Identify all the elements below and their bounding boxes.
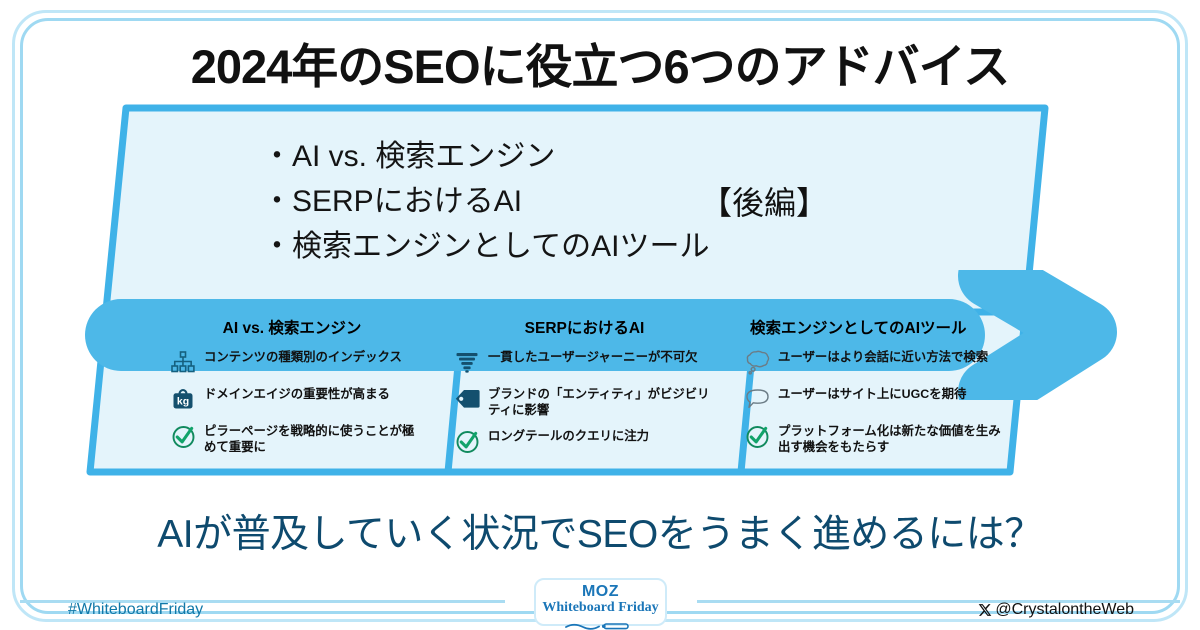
footer-hashtag: #WhiteboardFriday	[68, 601, 203, 619]
column-3-heading: 検索エンジンとしてのAIツール	[742, 316, 1012, 338]
thought-bubble-icon	[742, 348, 772, 376]
column-2-item-1-text: 一貫したユーザージャーニーが不可欠	[488, 347, 698, 366]
check-circle-icon	[168, 422, 198, 450]
column-1-item-1: コンテンツの種類別のインデックス	[168, 347, 416, 376]
column-2-item-2: ブランドの「エンティティ」がビジビリティに影響	[452, 384, 717, 418]
moz-brand-label: MOZ	[536, 584, 665, 600]
column-3-item-3: プラットフォーム化は新たな価値を生み出す機会をもたらす	[742, 421, 1012, 455]
slide-canvas: 2024年のSEOに役立つ6つのアドバイス ・AI vs. 検索エンジン ・SE…	[0, 0, 1200, 630]
column-3-item-1: ユーザーはより会話に近い方法で検索	[742, 347, 1012, 376]
check-circle-icon	[742, 422, 772, 450]
kg-weight-bag-icon: kg	[168, 385, 198, 413]
footer-social-handle[interactable]: @CrystalontheWeb	[978, 601, 1134, 619]
moz-whiteboard-friday-badge: MOZ Whiteboard Friday	[534, 578, 667, 626]
intro-bullet-1: ・AI vs. 検索エンジン	[262, 136, 709, 178]
column-3-item-1-text: ユーザーはより会話に近い方法で検索	[778, 347, 988, 366]
marker-pen-icon	[536, 617, 665, 630]
column-1-item-2: kg ドメインエイジの重要性が高まる	[168, 384, 416, 413]
column-1-item-3-text: ピラーページを戦略的に使うことが極めて重要に	[204, 421, 416, 455]
column-1-heading: AI vs. 検索エンジン	[168, 316, 416, 338]
column-2-heading: SERPにおけるAI	[452, 316, 717, 338]
column-3-item-2: ユーザーはサイト上にUGCを期待	[742, 384, 1012, 413]
tag-icon	[452, 385, 482, 413]
intro-bullet-list: ・AI vs. 検索エンジン ・SERPにおけるAI ・検索エンジンとしてのAI…	[262, 136, 709, 271]
column-2-item-2-text: ブランドの「エンティティ」がビジビリティに影響	[488, 384, 717, 418]
intro-bullet-3: ・検索エンジンとしてのAIツール	[262, 226, 709, 268]
part-badge-label: 【後編】	[700, 178, 828, 224]
funnel-icon	[452, 348, 482, 376]
speech-bubble-icon	[742, 385, 772, 413]
column-ai-vs-search-engine: AI vs. 検索エンジン コンテンツの種類別のインデックス	[168, 316, 416, 463]
column-2-item-3-text: ロングテールのクエリに注力	[488, 426, 649, 445]
column-ai-tools-as-search-engine: 検索エンジンとしてのAIツール ユーザーはより会話に近い方法で検索	[742, 316, 1012, 463]
closing-question: AIが普及していく状況でSEOをうまく進めるには？	[0, 503, 1200, 559]
whiteboard-friday-label: Whiteboard Friday	[536, 600, 665, 616]
column-2-item-1: 一貫したユーザージャーニーが不可欠	[452, 347, 717, 376]
column-1-item-2-text: ドメインエイジの重要性が高まる	[204, 384, 390, 403]
page-title: 2024年のSEOに役立つ6つのアドバイス	[0, 28, 1200, 97]
column-3-item-3-text: プラットフォーム化は新たな価値を生み出す機会をもたらす	[778, 421, 1012, 455]
column-2-item-3: ロングテールのクエリに注力	[452, 426, 717, 455]
column-ai-in-serp: SERPにおけるAI 一貫したユーザージャーニーが不可欠	[452, 316, 717, 463]
check-circle-icon	[452, 427, 482, 455]
column-1-item-1-text: コンテンツの種類別のインデックス	[204, 347, 402, 366]
column-3-item-2-text: ユーザーはサイト上にUGCを期待	[778, 384, 966, 403]
svg-text:kg: kg	[177, 395, 189, 407]
column-1-item-3: ピラーページを戦略的に使うことが極めて重要に	[168, 421, 416, 455]
x-twitter-icon	[978, 603, 992, 617]
three-column-section: AI vs. 検索エンジン コンテンツの種類別のインデックス	[0, 316, 1200, 481]
intro-bullet-2: ・SERPにおけるAI	[262, 181, 709, 223]
footer-handle-text: @CrystalontheWeb	[995, 601, 1134, 619]
sitemap-icon	[168, 348, 198, 376]
